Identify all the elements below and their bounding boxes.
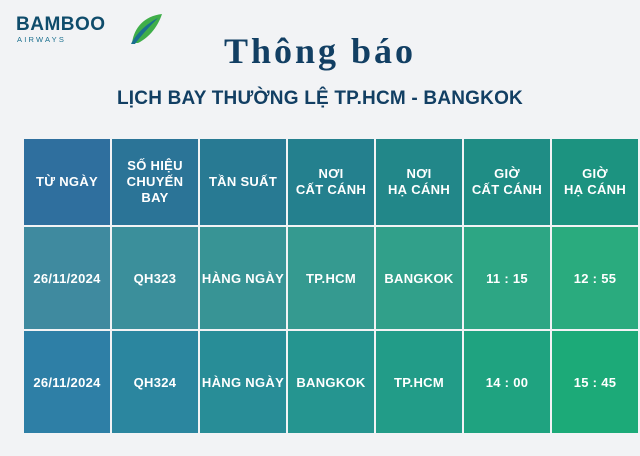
column-header-departure-time: GIỜ CẤT CÁNH bbox=[464, 139, 550, 225]
page-subtitle: LỊCH BAY THƯỜNG LỆ TP.HCM - BANGKOK bbox=[0, 88, 640, 110]
cell-departure-place: BANGKOK bbox=[288, 331, 374, 433]
cell-departure-place: TP.HCM bbox=[288, 227, 374, 329]
cell-frequency: HÀNG NGÀY bbox=[200, 227, 286, 329]
flight-schedule-table: TỪ NGÀY SỐ HIỆU CHUYẾN BAY TẦN SUẤT NƠI … bbox=[22, 137, 618, 435]
table-row: 26/11/2024 QH323 HÀNG NGÀY TP.HCM BANGKO… bbox=[24, 227, 638, 329]
cell-arrival-time: 15 : 45 bbox=[552, 331, 638, 433]
page-title: Thông báo bbox=[0, 30, 640, 72]
table-row: 26/11/2024 QH324 HÀNG NGÀY BANGKOK TP.HC… bbox=[24, 331, 638, 433]
cell-arrival-place: BANGKOK bbox=[376, 227, 462, 329]
column-header-arrival-place: NƠI HẠ CÁNH bbox=[376, 139, 462, 225]
column-header-arrival-time: GIỜ HẠ CÁNH bbox=[552, 139, 638, 225]
announcement-page: BAMBOO AIRWAYS Thông báo LỊCH BAY THƯỜNG… bbox=[0, 0, 640, 456]
table-header-row: TỪ NGÀY SỐ HIỆU CHUYẾN BAY TẦN SUẤT NƠI … bbox=[24, 139, 638, 225]
column-header-departure-place: NƠI CẤT CÁNH bbox=[288, 139, 374, 225]
cell-departure-time: 14 : 00 bbox=[464, 331, 550, 433]
column-header-frequency: TẦN SUẤT bbox=[200, 139, 286, 225]
column-header-flight-number: SỐ HIỆU CHUYẾN BAY bbox=[112, 139, 198, 225]
cell-arrival-place: TP.HCM bbox=[376, 331, 462, 433]
cell-flight-number: QH323 bbox=[112, 227, 198, 329]
cell-arrival-time: 12 : 55 bbox=[552, 227, 638, 329]
cell-from-date: 26/11/2024 bbox=[24, 331, 110, 433]
cell-departure-time: 11 : 15 bbox=[464, 227, 550, 329]
cell-frequency: HÀNG NGÀY bbox=[200, 331, 286, 433]
cell-from-date: 26/11/2024 bbox=[24, 227, 110, 329]
column-header-from-date: TỪ NGÀY bbox=[24, 139, 110, 225]
cell-flight-number: QH324 bbox=[112, 331, 198, 433]
